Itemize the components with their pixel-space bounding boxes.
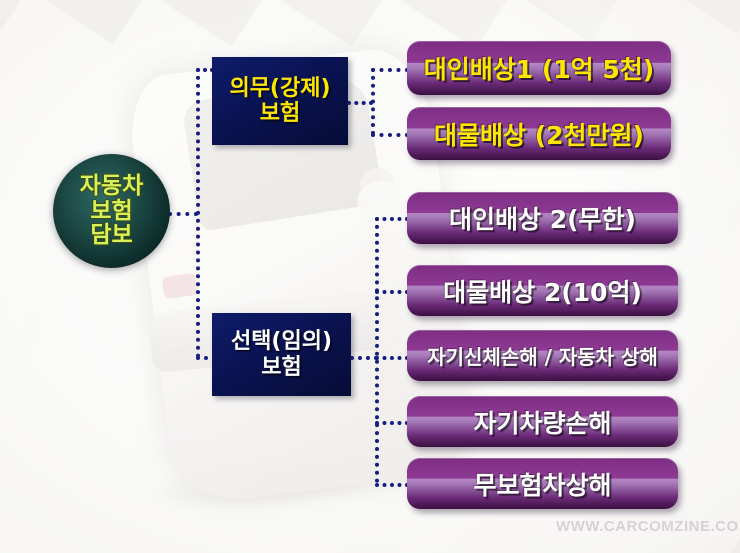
leaf-node-property-damage-label: 대물배상 (2천만원) — [434, 116, 644, 152]
leaf-node-self-bodily-injury[interactable]: 자기신체손해 / 자동차 상해 — [407, 330, 678, 381]
leaf-node-bodily-injury-2-label: 대인배상 2(무한) — [449, 200, 636, 236]
slide-canvas: WWW.CARCOMZINE.CO.KR 자동차보험담보 의무(강제)보험 선택… — [0, 0, 740, 553]
leaf-node-uninsured-motorist[interactable]: 무보험차상해 — [407, 458, 678, 509]
branch-node-mandatory-insurance[interactable]: 의무(강제)보험 — [212, 57, 348, 145]
connector-to-box-6 — [375, 421, 409, 425]
branch-node-optional-insurance[interactable]: 선택(임의)보험 — [212, 313, 351, 396]
connector-to-box-3 — [375, 217, 409, 221]
connector-root-spine — [196, 68, 200, 358]
connector-to-box-7 — [375, 483, 409, 487]
connector-to-box-5 — [375, 356, 409, 360]
branch-node-optional-label: 선택(임의)보험 — [231, 329, 332, 379]
leaf-node-bodily-injury-2[interactable]: 대인배상 2(무한) — [407, 192, 678, 244]
leaf-node-bodily-injury-1-label: 대인배상1 (1억 5천) — [424, 50, 654, 86]
site-watermark: WWW.CARCOMZINE.CO.KR — [556, 518, 740, 535]
leaf-node-own-vehicle-damage-label: 자기차량손해 — [473, 404, 611, 440]
root-node-auto-insurance-coverage[interactable]: 자동차보험담보 — [53, 154, 170, 268]
leaf-node-property-damage-2[interactable]: 대물배상 2(10억) — [407, 265, 678, 316]
connector-to-box-1 — [371, 68, 409, 72]
connector-mandatory-trunk — [371, 68, 375, 135]
leaf-node-property-damage-2-label: 대물배상 2(10억) — [443, 273, 642, 309]
leaf-node-bodily-injury-1[interactable]: 대인배상1 (1억 5천) — [407, 41, 671, 95]
connector-to-box-2 — [371, 133, 409, 137]
root-node-label: 자동차보험담보 — [80, 174, 143, 248]
connector-root-stub — [168, 212, 198, 216]
branch-node-mandatory-label: 의무(강제)보험 — [229, 76, 330, 126]
connector-to-box-4 — [375, 290, 409, 294]
connector-optional-stub — [350, 356, 378, 360]
leaf-node-property-damage[interactable]: 대물배상 (2천만원) — [407, 107, 671, 160]
leaf-node-own-vehicle-damage[interactable]: 자기차량손해 — [407, 396, 678, 447]
leaf-node-uninsured-motorist-label: 무보험차상해 — [473, 466, 611, 502]
leaf-node-self-bodily-injury-label: 자기신체손해 / 자동차 상해 — [427, 341, 658, 370]
connector-mandatory-stub — [347, 101, 373, 105]
connector-optional-trunk — [375, 217, 379, 483]
